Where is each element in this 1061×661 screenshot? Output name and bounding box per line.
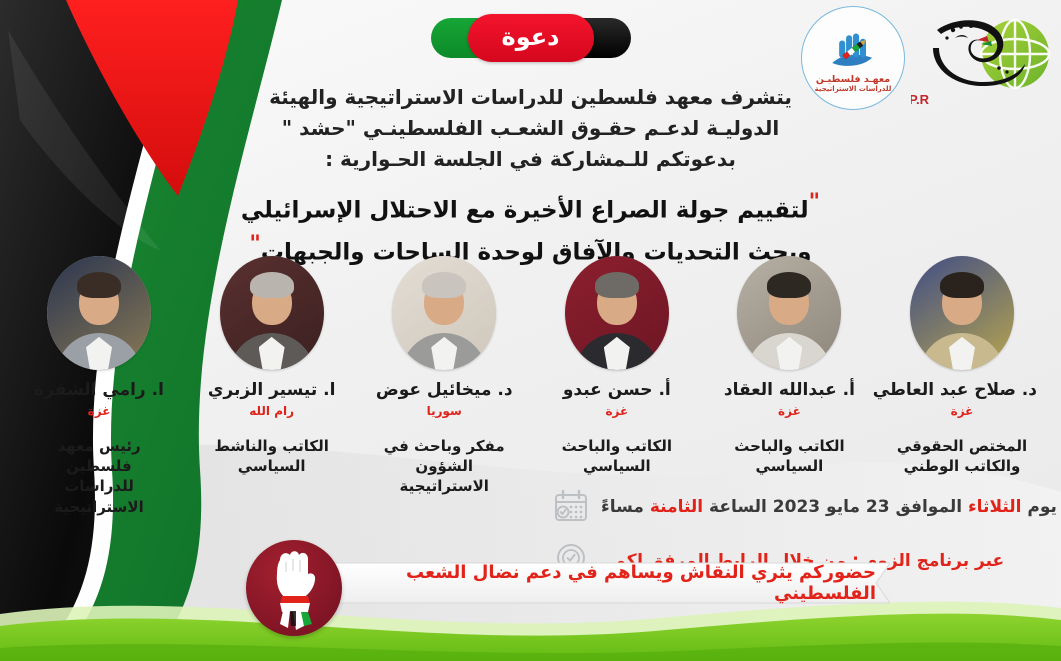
speaker-card: ا. رامي الشقرةغزةرئيس معهد فلسطينللدراسا… [24, 256, 174, 517]
calendar-icon [551, 487, 591, 527]
intro-line-1: يتشرف معهد فلسطين للدراسات الاستراتيجية … [0, 82, 1061, 113]
speaker-photo [47, 256, 151, 370]
speaker-location: غزة [542, 404, 692, 418]
speaker-photo [565, 256, 669, 370]
raised-fist-icon [246, 540, 342, 636]
speaker-location: رام الله [197, 404, 347, 418]
speaker-photo [737, 256, 841, 370]
speaker-location: سوريا [369, 404, 519, 418]
speaker-name: ا. تيسير الزبري [197, 380, 347, 400]
date-hour: الثامنة [650, 497, 703, 517]
raised-fist-badge [246, 540, 342, 636]
speaker-card: أ. حسن عبدوغزةالكاتب والباحثالسياسي [542, 256, 692, 517]
speaker-title-line: رئيس معهد فلسطين [24, 436, 174, 477]
speaker-title: رئيس معهد فلسطينللدراسات الاستراتيجية [24, 436, 174, 517]
event-date-text: يوم الثلاثاء الموافق 23 مايو 2023 الساعة… [601, 497, 1057, 517]
badge-red-pill: دعوة [468, 14, 594, 62]
speaker-title: مفكر وباحث فيالشؤون الاستراتيجية [369, 436, 519, 497]
invitation-poster: دعوة [0, 0, 1061, 661]
event-date-row: يوم الثلاثاء الموافق 23 مايو 2023 الساعة… [551, 487, 1057, 527]
speaker-title-line: السياسي [714, 456, 864, 476]
speaker-title-line: الكاتب والناشط [197, 436, 347, 456]
date-day: الثلاثاء [968, 497, 1022, 517]
speaker-card: ا. تيسير الزبريرام اللهالكاتب والناشطالس… [197, 256, 347, 517]
session-title-line-1: "لتقييم جولة الصراع الأخيرة مع الاحتلال … [241, 186, 820, 228]
speaker-card: د. صلاح عبد العاطيغزةالمختص الحقوقيوالكا… [887, 256, 1037, 517]
intro-line-2: الدوليـة لدعـم حقـوق الشعـب الفلسطينـي "… [0, 113, 1061, 144]
speaker-location: غزة [887, 404, 1037, 418]
speaker-title-line: مفكر وباحث في [369, 436, 519, 456]
speaker-title: الكاتب والباحثالسياسي [714, 436, 864, 477]
speaker-title-line: الكاتب والباحث [542, 436, 692, 456]
session-title-text-1: لتقييم جولة الصراع الأخيرة مع الاحتلال ا… [241, 198, 809, 224]
intro-line-3: بدعوتكم للـمشاركة في الجلسة الحـوارية : [0, 144, 1061, 175]
quote-close: " [249, 232, 260, 257]
date-prefix: يوم [1022, 497, 1057, 517]
speaker-name: د. ميخائيل عوض [369, 380, 519, 400]
speaker-location: غزة [24, 404, 174, 418]
quote-open: " [809, 190, 820, 215]
speaker-title-line: الشؤون الاستراتيجية [369, 456, 519, 497]
speakers-row: ا. رامي الشقرةغزةرئيس معهد فلسطينللدراسا… [24, 256, 1037, 517]
date-mid: الموافق 23 مايو 2023 الساعة [703, 497, 968, 517]
date-suffix: مساءً [601, 497, 650, 517]
speaker-title-line: للدراسات الاستراتيجية [24, 476, 174, 517]
speaker-title-line: الكاتب والباحث [714, 436, 864, 456]
closing-banner-text: حضوركم يثري النقاش ويساهم في دعم نضال ال… [310, 561, 890, 605]
speaker-title-line: السياسي [542, 456, 692, 476]
speaker-title: الكاتب والباحثالسياسي [542, 436, 692, 477]
speaker-photo [910, 256, 1014, 370]
speaker-title: الكاتب والناشطالسياسي [197, 436, 347, 477]
speaker-name: ا. رامي الشقرة [24, 380, 174, 400]
invitation-badge: دعوة [431, 14, 631, 62]
speaker-card: د. ميخائيل عوضسوريامفكر وباحث فيالشؤون ا… [369, 256, 519, 517]
speaker-name: أ. حسن عبدو [542, 380, 692, 400]
speaker-title: المختص الحقوقيوالكاتب الوطني [887, 436, 1037, 477]
speaker-title-line: والكاتب الوطني [887, 456, 1037, 476]
speaker-name: أ. عبدالله العقاد [714, 380, 864, 400]
speaker-location: غزة [714, 404, 864, 418]
speaker-name: د. صلاح عبد العاطي [887, 380, 1037, 400]
speaker-title-line: المختص الحقوقي [887, 436, 1037, 456]
badge-label: دعوة [502, 25, 560, 52]
speaker-photo [220, 256, 324, 370]
speaker-photo [392, 256, 496, 370]
closing-banner: حضوركم يثري النقاش ويساهم في دعم نضال ال… [310, 561, 890, 605]
intro-paragraph: يتشرف معهد فلسطين للدراسات الاستراتيجية … [0, 82, 1061, 175]
speaker-card: أ. عبدالله العقادغزةالكاتب والباحثالسياس… [714, 256, 864, 517]
hand-pen-icon [827, 28, 879, 72]
speaker-title-line: السياسي [197, 456, 347, 476]
